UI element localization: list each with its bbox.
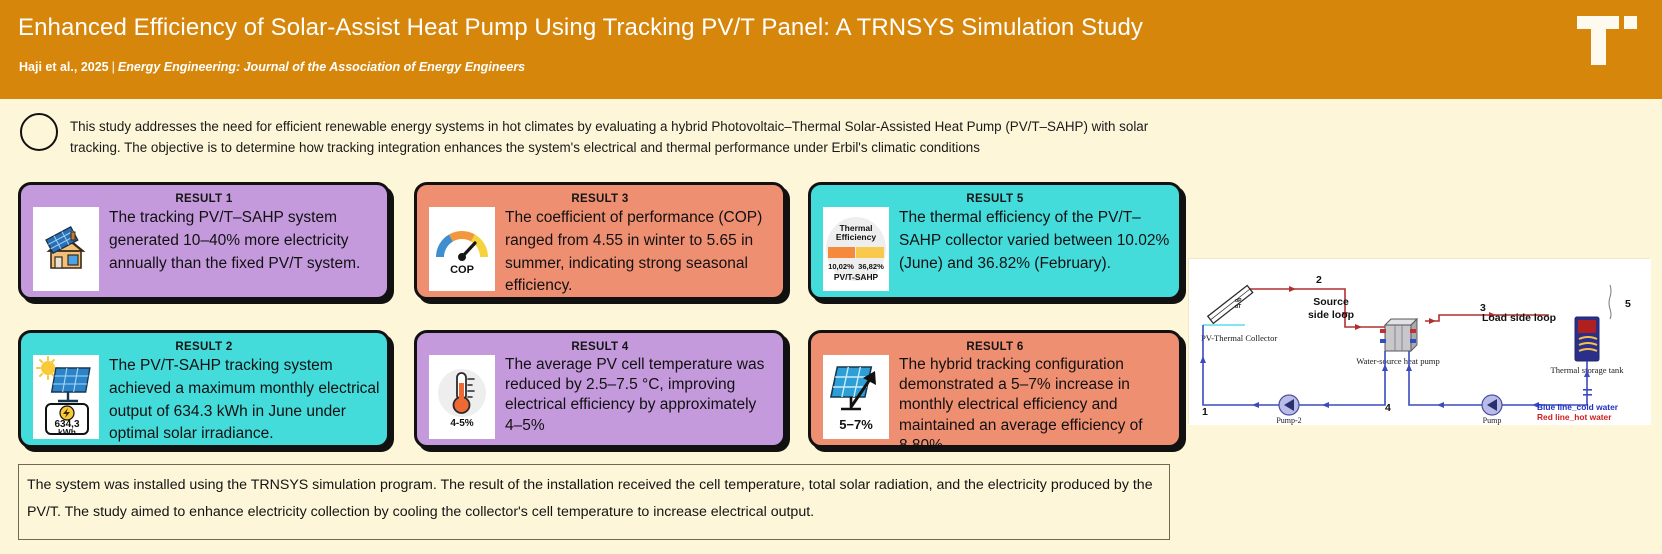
solar-panel-up-arrow-icon: 5−7% <box>823 355 889 439</box>
battery-unit: kWh <box>58 427 76 437</box>
thermometer-caption: 4-5% <box>450 418 473 429</box>
result-card-label: RESULT 2 <box>21 341 387 353</box>
pump-icon <box>1482 395 1502 415</box>
diagram-node-1: 1 <box>1202 406 1208 418</box>
result-card-text: The thermal efficiency of the PV/T–SAHP … <box>899 207 1173 297</box>
heat-pump-label: Water-source heat pump <box>1356 356 1440 366</box>
legend-cold-water: Blue line_cold water <box>1537 402 1619 412</box>
diagram-node-2: 2 <box>1316 274 1322 286</box>
result-card-text: The average PV cell temperature was redu… <box>505 355 777 445</box>
page-header: Enhanced Efficiency of Solar-Assist Heat… <box>0 0 1662 99</box>
legend-hot-water: Red line_hot water <box>1537 412 1612 422</box>
result-card-4[interactable]: RESULT 4 4-5% The average PV cell temper… <box>414 330 786 448</box>
solar-panel-caption: 5−7% <box>839 417 873 432</box>
source-loop-label-line2: side loop <box>1308 309 1354 321</box>
thermal-efficiency-caption: PV/T-SAHP <box>834 272 879 282</box>
result-card-text: The coefficient of performance (COP) ran… <box>505 207 777 297</box>
cop-gauge-icon: COP <box>429 207 495 291</box>
thermal-efficiency-low-value: 10,02% <box>828 262 854 271</box>
result-card-label: RESULT 3 <box>417 193 783 205</box>
result-card-label: RESULT 1 <box>21 193 387 205</box>
result-card-label: RESULT 6 <box>811 341 1179 353</box>
intro-section: This study addresses the need for effici… <box>0 105 1200 167</box>
methods-summary-box: The system was installed using the TRNSY… <box>18 464 1170 540</box>
citation-separator: | <box>109 60 118 74</box>
house-with-solar-panel-icon <box>33 207 99 291</box>
intro-text: This study addresses the need for effici… <box>70 116 1165 158</box>
result-card-label: RESULT 5 <box>811 193 1179 205</box>
diagram-node-5: 5 <box>1625 298 1631 310</box>
diagram-node-3: 3 <box>1480 302 1486 314</box>
sun-solar-panel-battery-icon: 634,3 kWh <box>33 355 99 439</box>
result-card-1[interactable]: RESULT 1 The tracking PV/T–SAHP system g… <box>18 182 390 300</box>
pump-label: Pump <box>1483 416 1502 425</box>
circle-bullet-icon <box>20 113 58 151</box>
pvt-sahp-system-schematic: αP αT PV-Thermal Collector Source side l… <box>1188 258 1650 424</box>
pump-2-icon <box>1279 395 1299 415</box>
poster-page: Enhanced Efficiency of Solar-Assist Heat… <box>0 0 1662 554</box>
cop-gauge-caption: COP <box>450 264 474 276</box>
thermometer-icon: 4-5% <box>429 355 495 439</box>
source-loop-label-line1: Source <box>1313 296 1349 308</box>
collector-tag-alpha-t: αT <box>1235 304 1241 310</box>
result-card-text: The hybrid tracking configuration demons… <box>899 355 1173 445</box>
result-card-5[interactable]: RESULT 5 Thermal Efficiency 10,02% 36,82… <box>808 182 1182 300</box>
result-card-text: The tracking PV/T–SAHP system generated … <box>109 207 381 297</box>
result-card-2[interactable]: RESULT 2 <box>18 330 390 448</box>
collector-label: PV-Thermal Collector <box>1201 333 1277 343</box>
thermal-efficiency-title-line2: Efficiency <box>836 232 876 242</box>
thermal-efficiency-chart-icon: Thermal Efficiency 10,02% 36,82% PV/T-SA… <box>823 207 889 291</box>
methods-summary-text: The system was installed using the TRNSY… <box>27 472 1159 526</box>
citation-line: Haji et al., 2025|Energy Engineering: Jo… <box>19 60 525 74</box>
pump-2-label: Pump-2 <box>1276 416 1301 425</box>
thermal-efficiency-high-value: 36,82% <box>858 262 884 271</box>
load-loop-label: Load side loop <box>1482 312 1556 324</box>
brand-logo-icon <box>1574 8 1638 66</box>
result-card-label: RESULT 4 <box>417 341 783 353</box>
page-title: Enhanced Efficiency of Solar-Assist Heat… <box>18 14 1143 42</box>
citation-journal: Energy Engineering: Journal of the Assoc… <box>118 60 525 74</box>
result-card-text: The PV/T-SAHP tracking system achieved a… <box>109 355 381 445</box>
result-card-6[interactable]: RESULT 6 5−7% The hybrid tracking config… <box>808 330 1182 448</box>
result-card-3[interactable]: RESULT 3 COP The coefficient of performa… <box>414 182 786 300</box>
diagram-node-4: 4 <box>1385 402 1391 414</box>
citation-authors: Haji et al., 2025 <box>19 60 109 74</box>
